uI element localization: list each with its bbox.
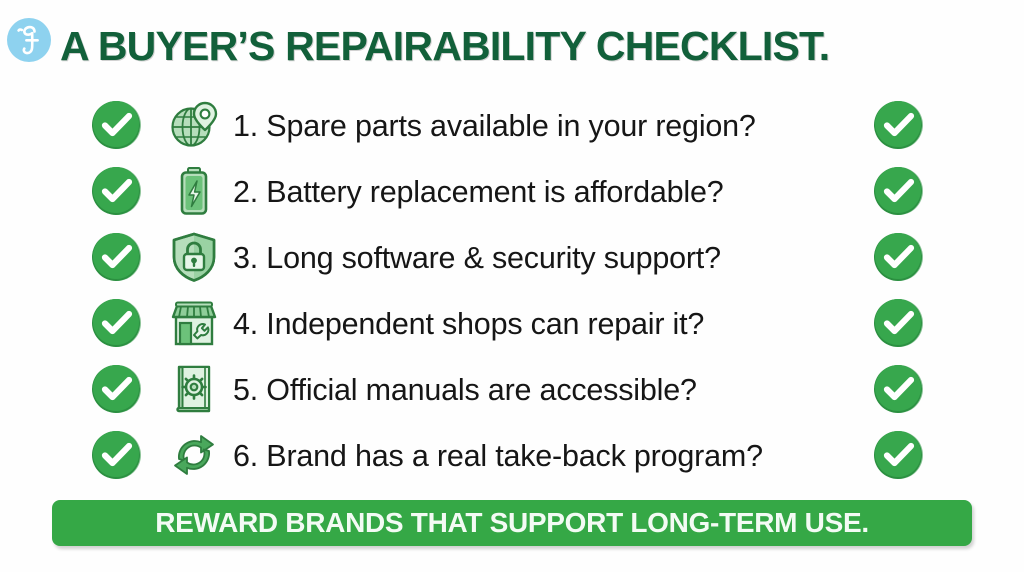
page-title: A BUYER’S REPAIRABILITY CHECKLIST. xyxy=(60,10,980,82)
check-circle-icon-left xyxy=(88,294,146,352)
check-circle-icon-left xyxy=(88,96,146,154)
check-circle-icon-right xyxy=(870,426,928,484)
checklist-item-text: 3. Long software & security support? xyxy=(233,225,721,291)
check-circle-icon-left xyxy=(88,228,146,286)
checklist: 1. Spare parts available in your region? xyxy=(0,93,1024,489)
shield-lock-icon xyxy=(166,229,222,285)
check-circle-icon-left xyxy=(88,162,146,220)
check-circle-icon-right xyxy=(870,294,928,352)
battery-bolt-icon xyxy=(166,163,222,219)
checklist-item-text: 5. Official manuals are accessible? xyxy=(233,357,697,423)
checklist-row: 2. Battery replacement is affordable? xyxy=(0,159,1024,225)
footer-banner: REWARD BRANDS THAT SUPPORT LONG-TERM USE… xyxy=(52,500,972,546)
recycle-arrows-icon xyxy=(166,427,222,483)
checklist-row: 6. Brand has a real take-back program? xyxy=(0,423,1024,489)
check-circle-icon-left xyxy=(88,360,146,418)
script-g-logo-icon xyxy=(7,18,51,62)
checklist-item-text: 1. Spare parts available in your region? xyxy=(233,93,756,159)
check-circle-icon-right xyxy=(870,96,928,154)
checklist-row: 5. Official manuals are accessible? xyxy=(0,357,1024,423)
checklist-row: 4. Independent shops can repair it? xyxy=(0,291,1024,357)
check-circle-icon-right xyxy=(870,162,928,220)
checklist-row: 3. Long software & security support? xyxy=(0,225,1024,291)
checklist-item-text: 6. Brand has a real take-back program? xyxy=(233,423,763,489)
check-circle-icon-left xyxy=(88,426,146,484)
check-circle-icon-right xyxy=(870,228,928,286)
header: A BUYER’S REPAIRABILITY CHECKLIST. xyxy=(0,12,1024,82)
checklist-item-text: 2. Battery replacement is affordable? xyxy=(233,159,724,225)
globe-location-pin-icon xyxy=(166,97,222,153)
manual-book-gear-icon xyxy=(166,361,222,417)
footer-banner-text: REWARD BRANDS THAT SUPPORT LONG-TERM USE… xyxy=(155,507,869,539)
check-circle-icon-right xyxy=(870,360,928,418)
poster-canvas: A BUYER’S REPAIRABILITY CHECKLIST. xyxy=(0,0,1024,572)
repair-shop-wrench-icon xyxy=(166,295,222,351)
checklist-row: 1. Spare parts available in your region? xyxy=(0,93,1024,159)
checklist-item-text: 4. Independent shops can repair it? xyxy=(233,291,704,357)
